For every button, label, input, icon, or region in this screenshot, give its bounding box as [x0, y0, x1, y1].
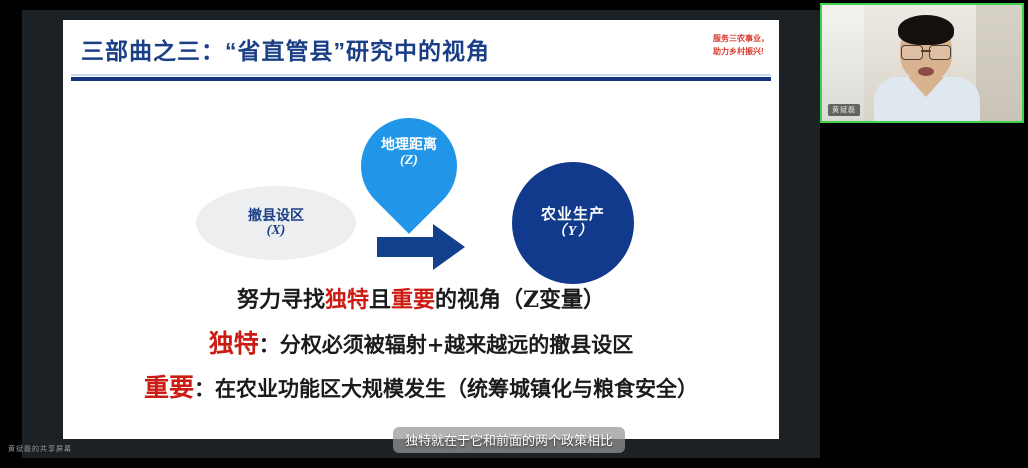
slide-header: 三部曲之三：“省直管县”研究中的视角 服务三农事业， 助力乡村振兴! [63, 20, 779, 76]
share-chrome-top [22, 10, 820, 20]
participant-video-tile[interactable]: 黄斌磊 [820, 3, 1024, 123]
statement-2-lead: 独特 [209, 329, 259, 358]
screen-share-stage: 三部曲之三：“省直管县”研究中的视角 服务三农事业， 助力乡村振兴! 撤县设区 … [0, 0, 1028, 468]
slide-header-rule [71, 77, 771, 81]
statement-line-2: 独特：分权必须被辐射+越来越远的撤县设区 [63, 324, 779, 360]
slogan-line-1: 服务三农事业， [713, 32, 769, 45]
statement-line-1: 努力寻找独特且重要的视角（Z变量） [63, 282, 779, 314]
glasses-icon [901, 45, 951, 58]
statement-3-lead: 重要 [144, 373, 194, 402]
participant-name-badge: 黄斌磊 [828, 104, 860, 116]
node-y-variable: （Y） [552, 224, 595, 241]
statement-1-part-1: 努力寻找 [237, 287, 325, 313]
arrow-right-icon [377, 224, 465, 275]
node-x-label: 撤县设区 [248, 207, 304, 223]
participant-hair [898, 15, 954, 45]
shared-slide: 三部曲之三：“省直管县”研究中的视角 服务三农事业， 助力乡村振兴! 撤县设区 … [63, 20, 779, 439]
share-chrome-left [22, 10, 64, 458]
node-z-variable: (Z) [361, 153, 457, 170]
statement-1-highlight-2: 重要 [391, 287, 435, 313]
slide-slogan: 服务三农事业， 助力乡村振兴! [713, 32, 769, 58]
screen-share-banner: 黄斌磊的共享屏幕 [8, 444, 72, 454]
statement-1-part-3: 的视角（Z变量） [435, 287, 605, 313]
statement-3-body: ：在农业功能区大规模发生（统筹城镇化与粮食安全） [194, 376, 698, 401]
node-x-variable: (X) [267, 223, 286, 239]
live-caption: 独特就在于它和前面的两个政策相比 [393, 427, 625, 453]
glasses-lens-left [901, 45, 923, 60]
slide-statements: 努力寻找独特且重要的视角（Z变量） 独特：分权必须被辐射+越来越远的撤县设区 重… [63, 282, 779, 404]
participant-mouth [918, 67, 934, 76]
diagram-node-z: 地理距离 (Z) [361, 118, 457, 238]
causal-diagram: 撤县设区 (X) 地理距离 (Z) 农业生产 （Y） [63, 84, 779, 284]
diagram-node-y: 农业生产 （Y） [512, 162, 634, 284]
slide-header-rule-light [71, 74, 771, 76]
slogan-line-2: 助力乡村振兴! [713, 45, 769, 58]
node-y-label: 农业生产 [541, 206, 605, 224]
share-chrome-right [778, 10, 820, 458]
node-z-label: 地理距离 [361, 136, 457, 153]
statement-line-3: 重要：在农业功能区大规模发生（统筹城镇化与粮食安全） [63, 368, 779, 404]
glasses-lens-right [929, 45, 951, 60]
diagram-node-x: 撤县设区 (X) [196, 186, 356, 260]
statement-1-highlight-1: 独特 [325, 287, 369, 313]
statement-1-part-2: 且 [369, 287, 391, 313]
slide-title: 三部曲之三：“省直管县”研究中的视角 [81, 32, 490, 66]
statement-2-body: ：分权必须被辐射+越来越远的撤县设区 [259, 332, 634, 357]
node-z-text: 地理距离 (Z) [361, 136, 457, 170]
video-background-right [976, 5, 1022, 121]
